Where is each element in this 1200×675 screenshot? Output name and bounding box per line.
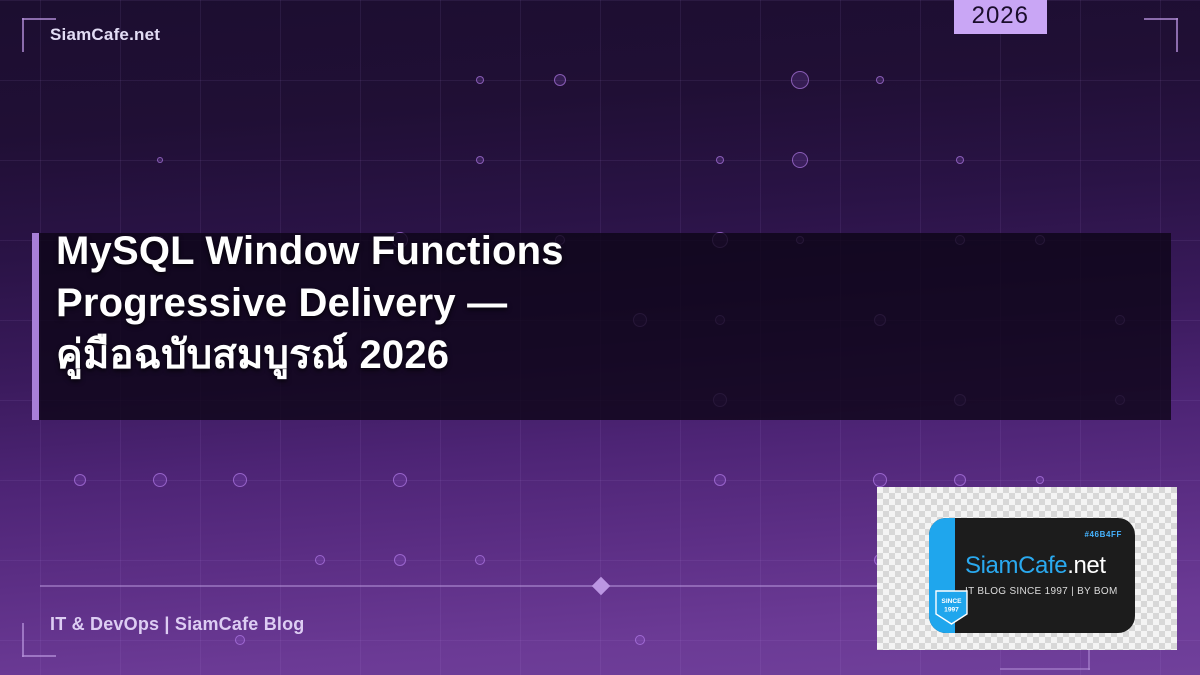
since-1997-badge-icon: SINCE 1997 bbox=[935, 590, 968, 630]
divider-diamond-icon bbox=[592, 577, 610, 595]
background-dot bbox=[476, 76, 484, 84]
background-dot bbox=[635, 635, 645, 645]
background-dot bbox=[394, 554, 406, 566]
since-badge-line1: SINCE bbox=[941, 598, 962, 605]
brand-logo-inner: #46B4FF SiamCafe.net IT BLOG SINCE 1997 … bbox=[929, 518, 1135, 633]
background-dot bbox=[74, 474, 86, 486]
brand-wordmark-tld: .net bbox=[1067, 552, 1105, 579]
brand-logo-card: #46B4FF SiamCafe.net IT BLOG SINCE 1997 … bbox=[877, 487, 1177, 650]
background-dot bbox=[233, 473, 247, 487]
background-dot bbox=[554, 74, 566, 86]
background-dot bbox=[954, 474, 966, 486]
background-dot bbox=[873, 473, 887, 487]
background-dot bbox=[476, 156, 484, 164]
corner-bracket-top-right bbox=[1144, 18, 1178, 52]
background-dot bbox=[393, 473, 407, 487]
background-dot bbox=[792, 152, 808, 168]
year-badge: 2026 bbox=[954, 0, 1047, 34]
brand-wordmark-name: SiamCafe bbox=[965, 552, 1067, 579]
title-panel: MySQL Window Functions Progressive Deliv… bbox=[32, 233, 1171, 420]
since-badge-line2: 1997 bbox=[944, 607, 959, 614]
background-dot bbox=[315, 555, 325, 565]
background-dot bbox=[153, 473, 167, 487]
background-dot bbox=[235, 635, 245, 645]
background-dot bbox=[791, 71, 809, 89]
background-dot bbox=[714, 474, 726, 486]
background-dot bbox=[1036, 476, 1044, 484]
background-dot bbox=[157, 157, 163, 163]
background-dot bbox=[876, 76, 884, 84]
background-dot bbox=[956, 156, 964, 164]
background-dot bbox=[475, 555, 485, 565]
brand-tagline: IT BLOG SINCE 1997 | BY BOM bbox=[965, 586, 1118, 597]
brand-wordmark: SiamCafe.net bbox=[965, 554, 1106, 578]
footer-caption: IT & DevOps | SiamCafe Blog bbox=[50, 614, 305, 635]
brand-hex-label: #46B4FF bbox=[1084, 530, 1122, 539]
poster-canvas: SiamCafe.net 2026 MySQL Window Functions… bbox=[0, 0, 1200, 675]
title-accent-bar bbox=[32, 233, 39, 420]
site-logo-text: SiamCafe.net bbox=[50, 25, 160, 45]
background-dot bbox=[716, 156, 724, 164]
page-title: MySQL Window Functions Progressive Deliv… bbox=[56, 225, 1146, 381]
